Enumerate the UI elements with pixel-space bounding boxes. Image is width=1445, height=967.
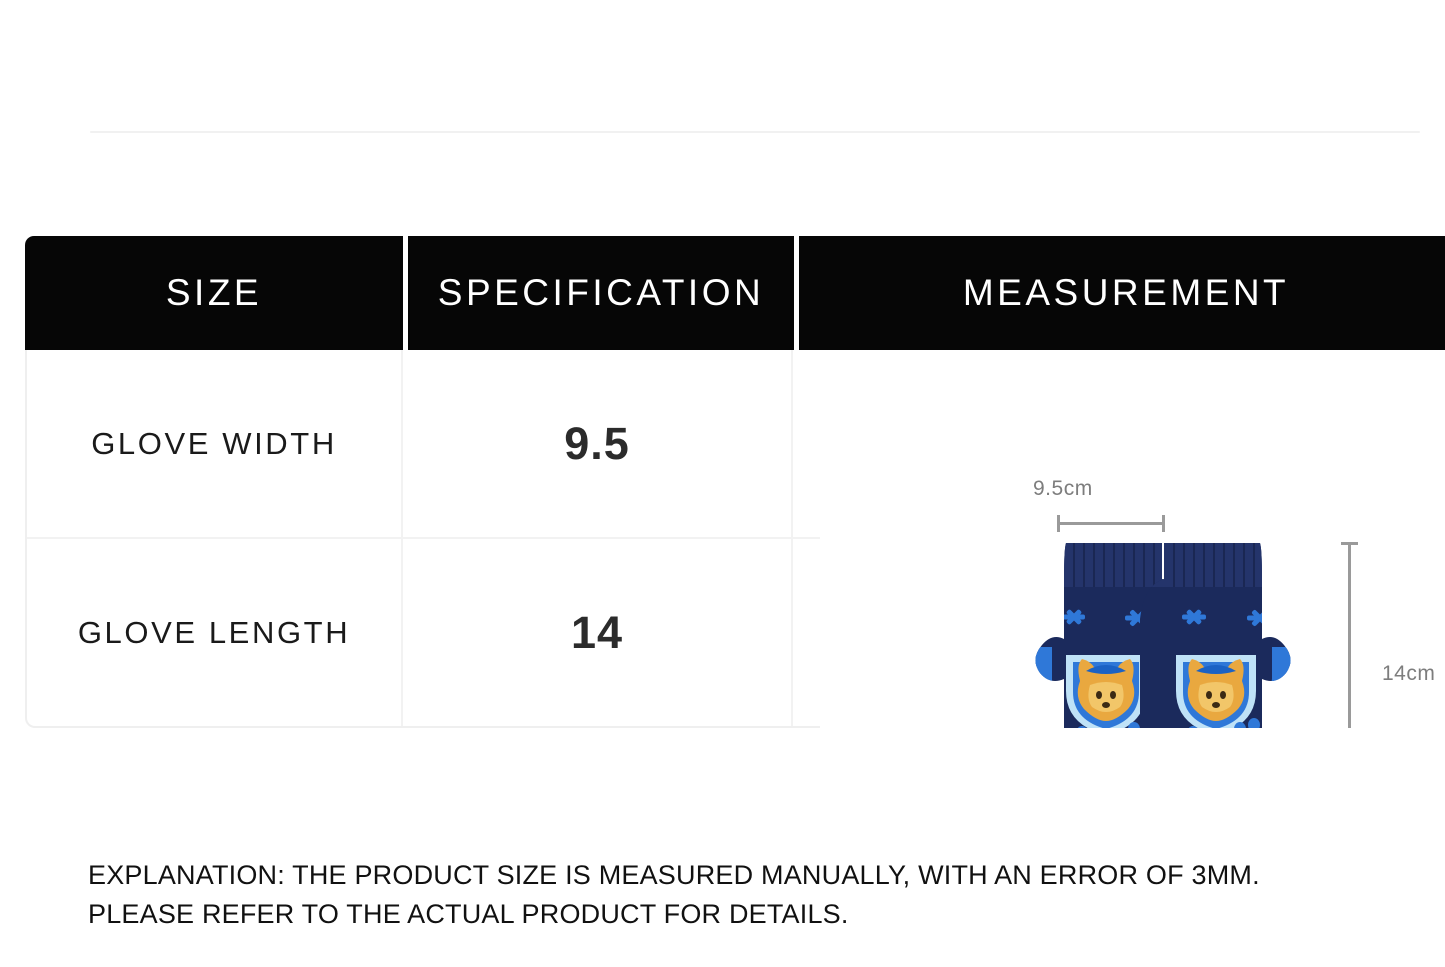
explanation-line-1: EXPLANATION: THE PRODUCT SIZE IS MEASURE…: [88, 856, 1368, 895]
cell-text: 14: [571, 607, 623, 659]
size-chart-table: SIZE SPECIFICATION MEASUREMENT GLOVE WID…: [25, 236, 1445, 728]
column-header-measurement: MEASUREMENT: [799, 236, 1445, 350]
top-divider: [90, 131, 1420, 133]
width-dimension-line: [1057, 522, 1165, 525]
size-chart-page: SIZE SPECIFICATION MEASUREMENT GLOVE WID…: [0, 0, 1445, 967]
row-value-glove-width: 9.5: [403, 350, 793, 537]
column-header-size: SIZE: [25, 236, 403, 350]
cell-text: GLOVE LENGTH: [78, 615, 350, 651]
column-header-size-label: SIZE: [166, 272, 262, 314]
cell-text: GLOVE WIDTH: [91, 426, 337, 462]
row-label-glove-width: GLOVE WIDTH: [27, 350, 403, 537]
row-label-glove-length: GLOVE LENGTH: [27, 539, 403, 726]
column-header-specification-label: SPECIFICATION: [438, 272, 764, 314]
height-dimension-label: 14cm: [1382, 662, 1435, 686]
height-dimension-line: [1348, 542, 1351, 728]
width-dimension-label: 9.5cm: [1033, 477, 1093, 501]
explanation-note: EXPLANATION: THE PRODUCT SIZE IS MEASURE…: [88, 856, 1368, 934]
table-header-row: SIZE SPECIFICATION MEASUREMENT: [25, 236, 1445, 350]
row-value-glove-length: 14: [403, 539, 793, 726]
explanation-line-2: PLEASE REFER TO THE ACTUAL PRODUCT FOR D…: [88, 895, 1368, 934]
cell-text: 9.5: [564, 418, 630, 470]
column-header-specification: SPECIFICATION: [408, 236, 794, 350]
column-header-measurement-label: MEASUREMENT: [963, 272, 1289, 314]
mittens-product-image: [988, 535, 1328, 728]
measurement-illustration-cell: 9.5cm 14cm: [820, 350, 1445, 728]
